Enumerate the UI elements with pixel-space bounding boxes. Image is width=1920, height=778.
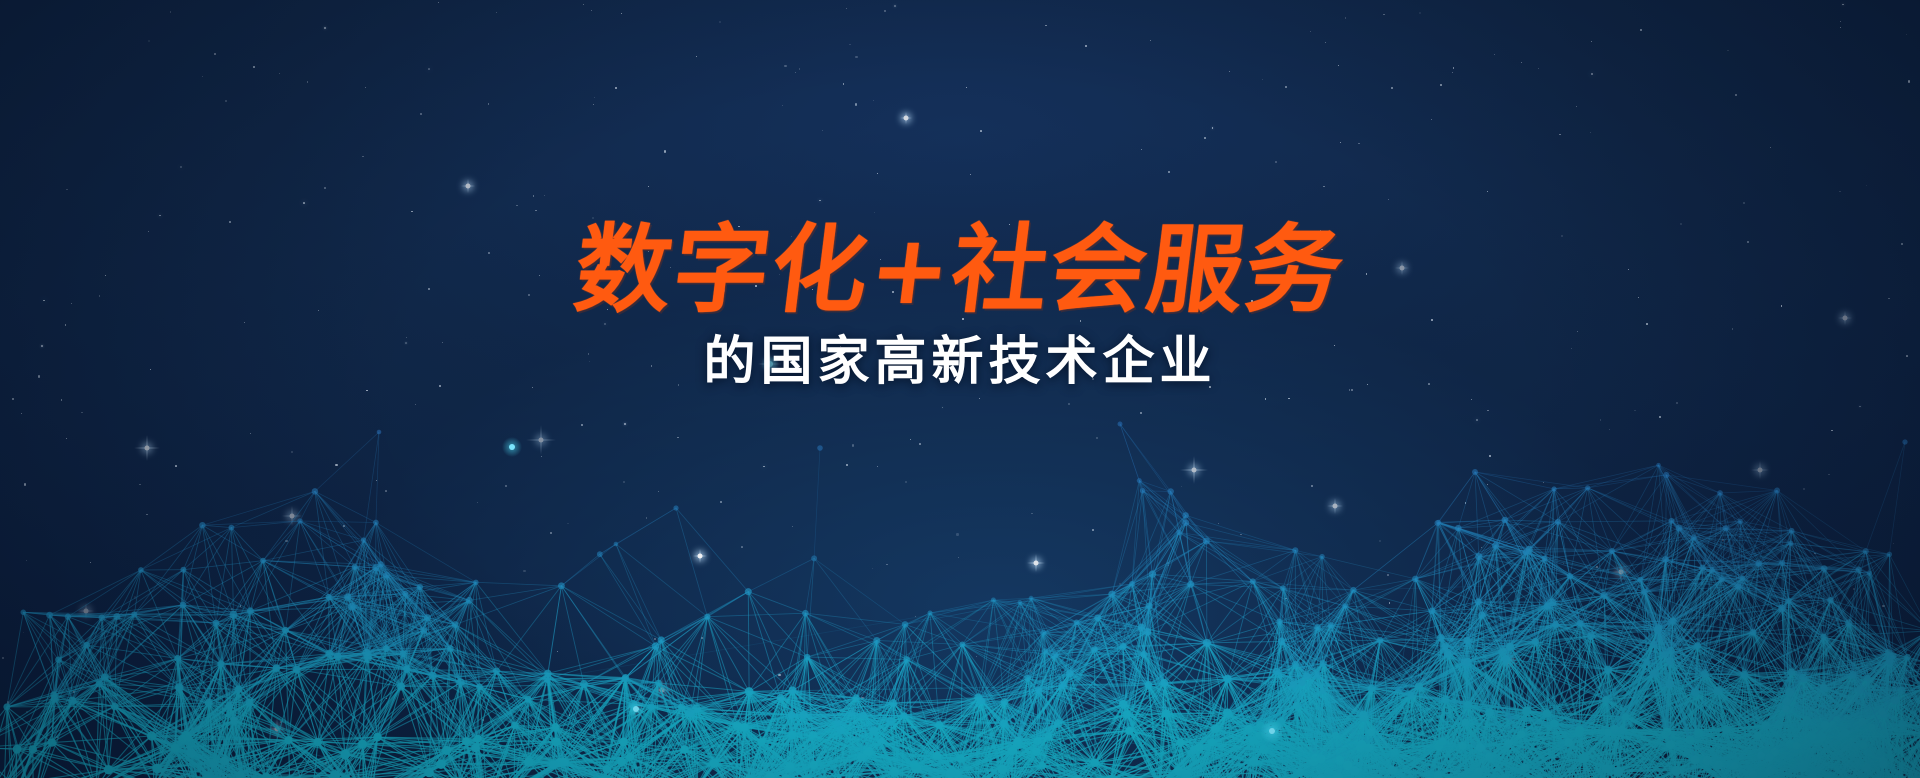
hero-banner: 数字化+社会服务 的国家高新技术企业 <box>0 0 1920 778</box>
banner-subtitle: 的国家高新技术企业 <box>0 336 1920 388</box>
banner-headline: 数字化+社会服务 <box>0 222 1920 318</box>
